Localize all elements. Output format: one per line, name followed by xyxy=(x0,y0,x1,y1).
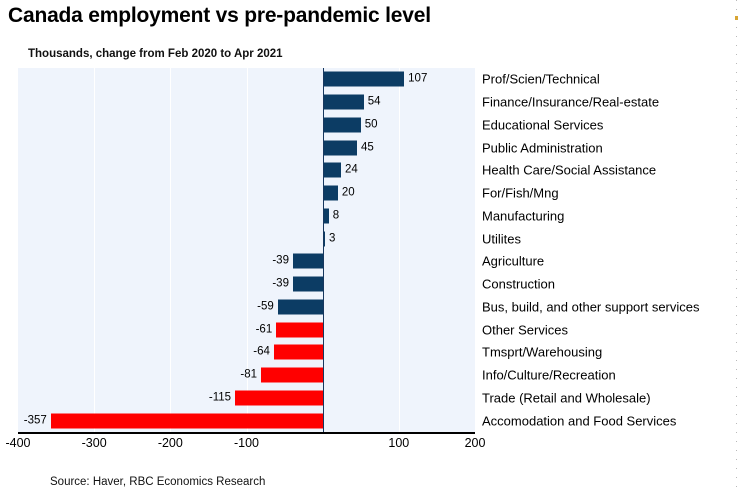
category-label: Utilites xyxy=(482,232,521,245)
zero-axis-line xyxy=(323,68,325,432)
x-axis-line xyxy=(18,432,475,434)
bar-row[interactable]: -39 xyxy=(18,273,475,296)
category-label: Public Administration xyxy=(482,141,603,154)
bar-value-label: -64 xyxy=(253,347,270,359)
bar-value-label: 20 xyxy=(342,187,355,199)
bar[interactable] xyxy=(293,277,323,292)
slide-edge-marker-icon xyxy=(735,16,738,20)
bar-value-label: 50 xyxy=(365,119,378,131)
chart-plot-area: 107545045242083-39-39-59-61-64-81-115-35… xyxy=(18,68,475,432)
source-note: Source: Haver, RBC Economics Research xyxy=(50,476,265,488)
category-label: Educational Services xyxy=(482,118,603,131)
bar-value-label: -115 xyxy=(209,392,231,404)
bar[interactable] xyxy=(323,140,357,155)
bar-row[interactable]: 3 xyxy=(18,227,475,250)
bar-value-label: 107 xyxy=(408,74,427,86)
bar-row[interactable]: 20 xyxy=(18,182,475,205)
category-label: Agriculture xyxy=(482,255,544,268)
bar-row[interactable]: -39 xyxy=(18,250,475,273)
bar-row[interactable]: 50 xyxy=(18,114,475,137)
category-label: Trade (Retail and Wholesale) xyxy=(482,391,651,404)
category-label: Bus, build, and other support services xyxy=(482,300,700,313)
bar-row[interactable]: 8 xyxy=(18,205,475,228)
category-label: For/Fish/Mng xyxy=(482,187,559,200)
bar-value-label: 8 xyxy=(333,210,339,222)
bar-value-label: 54 xyxy=(368,96,381,108)
x-tick-label: -400 xyxy=(5,436,30,450)
x-tick-label: 100 xyxy=(388,436,409,450)
category-label: Tmsprt/Warehousing xyxy=(482,346,602,359)
bar-value-label: -61 xyxy=(256,324,273,336)
bar-value-label: 24 xyxy=(345,165,358,177)
bar-value-label: -357 xyxy=(24,415,47,427)
category-label: Accomodation and Food Services xyxy=(482,414,676,427)
bar[interactable] xyxy=(323,163,341,178)
bar-row[interactable]: -115 xyxy=(18,387,475,410)
slide-canvas: Canada employment vs pre-pandemic level … xyxy=(0,0,742,495)
bar-value-label: -59 xyxy=(257,301,274,313)
bar-row[interactable]: 54 xyxy=(18,91,475,114)
category-label: Prof/Scien/Technical xyxy=(482,73,600,86)
category-label: Health Care/Social Assistance xyxy=(482,164,656,177)
bar-row[interactable]: -357 xyxy=(18,409,475,432)
bar-row[interactable]: -59 xyxy=(18,296,475,319)
page-title: Canada employment vs pre-pandemic level xyxy=(8,4,431,28)
x-axis-tick-labels: -400-300-200-100100200 xyxy=(0,436,742,456)
bar-row[interactable]: -64 xyxy=(18,341,475,364)
category-label: Manufacturing xyxy=(482,209,564,222)
category-label: Construction xyxy=(482,278,555,291)
x-tick-label: -300 xyxy=(82,436,107,450)
x-tick-label: -100 xyxy=(234,436,259,450)
bar-value-label: 45 xyxy=(361,142,374,154)
bar-value-label: 3 xyxy=(329,233,335,245)
bar-row[interactable]: -81 xyxy=(18,364,475,387)
bar[interactable] xyxy=(293,254,323,269)
category-label: Info/Culture/Recreation xyxy=(482,369,616,382)
bar[interactable] xyxy=(323,95,364,110)
x-tick-label: -200 xyxy=(158,436,183,450)
bar[interactable] xyxy=(276,322,322,337)
bar[interactable] xyxy=(323,186,338,201)
bar[interactable] xyxy=(51,413,323,428)
bar-value-label: -39 xyxy=(272,256,289,268)
bar[interactable] xyxy=(235,390,323,405)
bar[interactable] xyxy=(278,299,323,314)
bar-value-label: -39 xyxy=(272,278,289,290)
category-axis-labels: Prof/Scien/TechnicalFinance/Insurance/Re… xyxy=(482,68,740,432)
bar-row[interactable]: 45 xyxy=(18,136,475,159)
slide-edge-artifact xyxy=(736,0,737,495)
chart-subtitle: Thousands, change from Feb 2020 to Apr 2… xyxy=(28,48,283,60)
bar-row[interactable]: -61 xyxy=(18,318,475,341)
bar[interactable] xyxy=(274,345,323,360)
bar-row[interactable]: 107 xyxy=(18,68,475,91)
category-label: Other Services xyxy=(482,323,568,336)
bar-row[interactable]: 24 xyxy=(18,159,475,182)
category-label: Finance/Insurance/Real-estate xyxy=(482,96,659,109)
bar[interactable] xyxy=(261,368,323,383)
x-tick-label: 200 xyxy=(465,436,486,450)
bar-value-label: -81 xyxy=(240,369,257,381)
bar[interactable] xyxy=(323,117,361,132)
bar[interactable] xyxy=(323,72,404,87)
